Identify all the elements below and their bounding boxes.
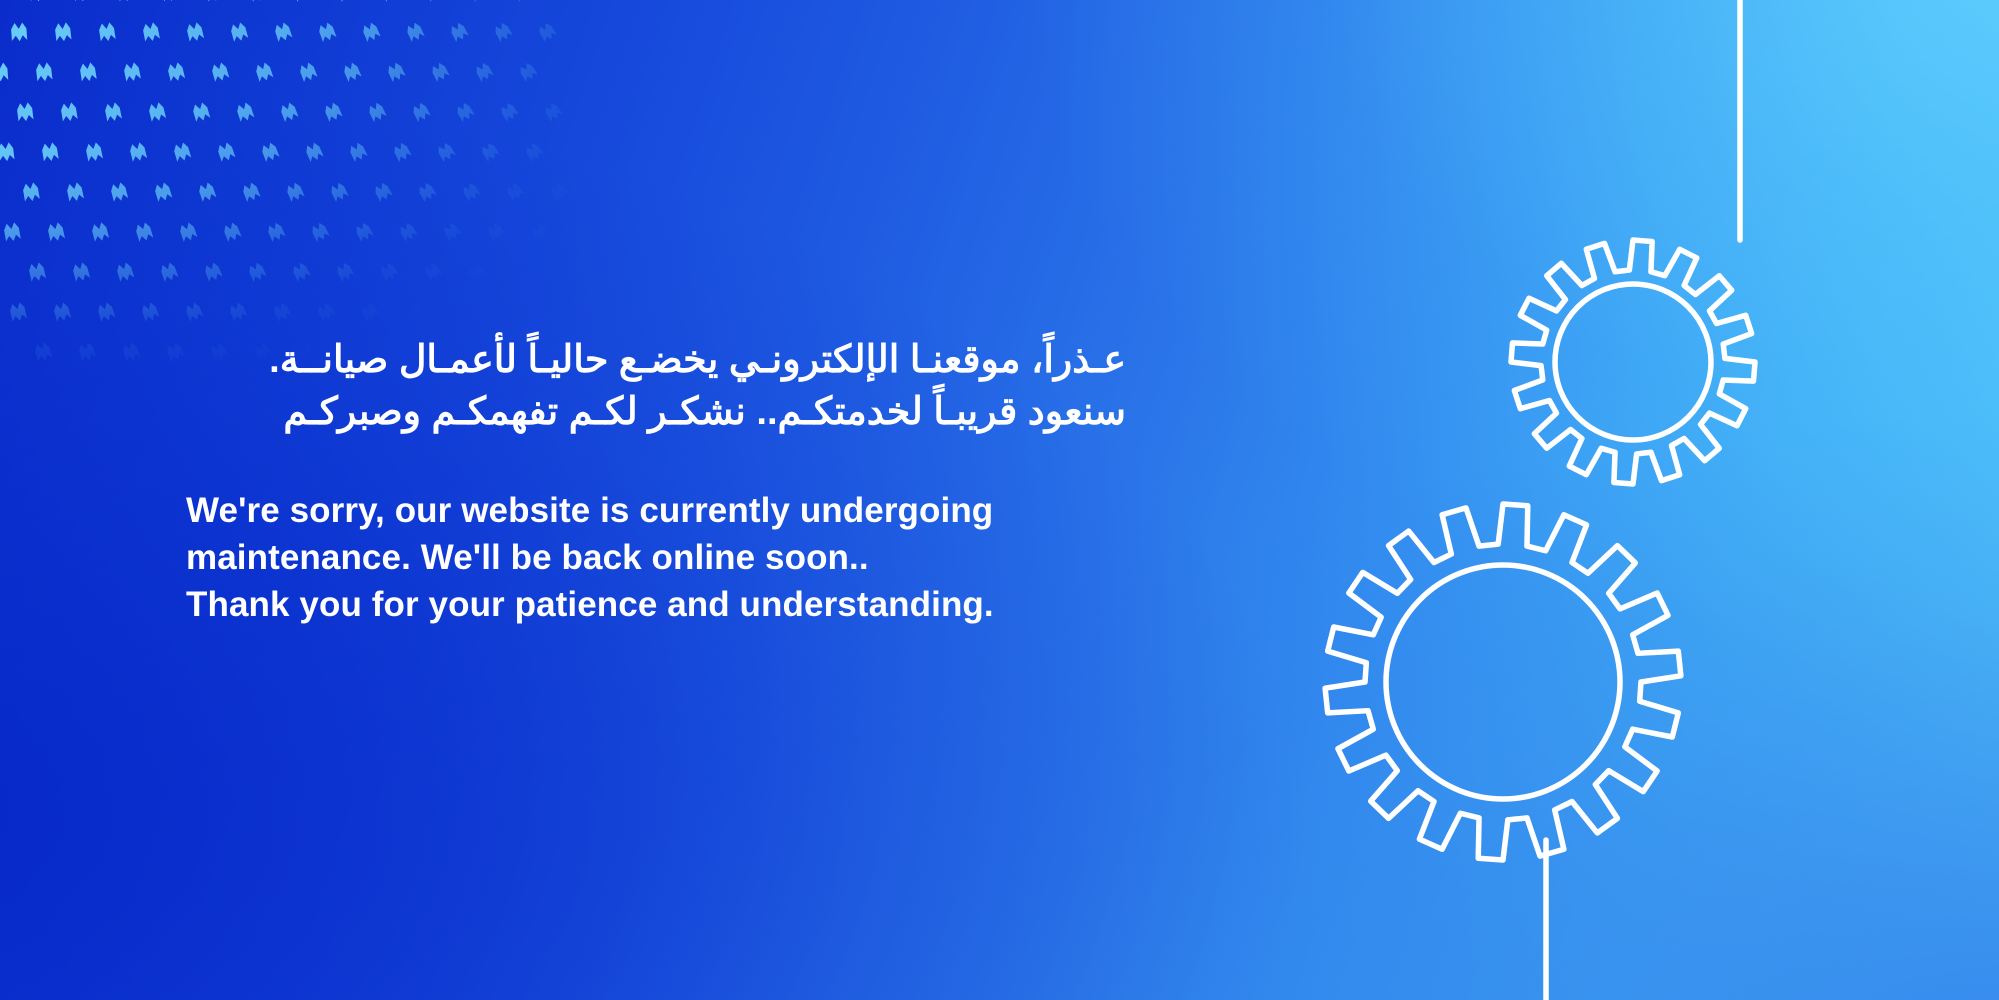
tulip-pattern-dot <box>41 142 59 162</box>
tulip-pattern-dot <box>530 222 550 243</box>
tulip-pattern-dot <box>317 21 337 42</box>
message-block: عـذراً، موقعنـا الإلكترونـي يخضـع حاليـا… <box>186 334 1186 629</box>
tulip-pattern-dot <box>66 182 84 203</box>
tulip-pattern-dot <box>285 181 305 202</box>
maintenance-page: عـذراً، موقعنـا الإلكترونـي يخضـع حاليـا… <box>0 0 1999 1000</box>
arabic-message-line-2: سنعود قريبـاً لخدمتكـم.. نشكـر لكـم تفهم… <box>186 386 1126 438</box>
tulip-pattern-dot <box>79 62 97 82</box>
tulip-pattern-dot <box>134 221 153 242</box>
tulip-pattern-dot <box>480 141 500 162</box>
tulip-pattern-dot <box>85 142 103 163</box>
tulip-pattern-dot <box>91 222 110 243</box>
tulip-pattern-dot <box>272 301 292 322</box>
tulip-pattern-dot <box>499 101 519 122</box>
tulip-pattern-dot <box>60 102 78 122</box>
tulip-pattern-dot <box>292 0 311 3</box>
tulip-pattern-dot <box>142 22 160 43</box>
tulip-pattern-dot <box>474 61 494 82</box>
tulip-pattern-dot <box>123 62 141 83</box>
tulip-pattern-dot <box>30 0 47 2</box>
tulip-pattern-dot <box>398 221 418 242</box>
tulip-pattern-dot <box>448 301 468 322</box>
tulip-pattern-dot <box>148 102 167 123</box>
english-message-line-2: maintenance. We'll be back online soon.. <box>186 535 1186 582</box>
tulip-pattern-dot <box>54 22 71 42</box>
tulip-pattern-dot <box>254 61 273 82</box>
tulip-pattern-dot <box>249 0 268 3</box>
tulip-pattern-dot <box>235 101 254 122</box>
tulip-pattern-dot <box>360 301 380 322</box>
tulip-pattern-dot <box>9 302 27 323</box>
tulip-pattern-dot <box>192 101 211 122</box>
tulip-pattern-dot <box>153 181 172 202</box>
tulip-pattern-dot <box>536 302 556 323</box>
tulip-pattern-dot <box>392 141 412 162</box>
tulip-pattern-dot <box>77 341 96 362</box>
tulip-pattern-dot <box>96 301 115 322</box>
tulip-pattern-dot <box>241 181 261 202</box>
tulip-pattern-dot <box>47 222 65 243</box>
tulip-pattern-dot <box>140 301 160 322</box>
tulip-pattern-dot <box>486 221 507 242</box>
tulip-pattern-dot <box>247 261 267 282</box>
tulip-pattern-dot <box>260 141 280 162</box>
tulip-pattern-decoration <box>0 0 620 374</box>
tulip-pattern-dot <box>455 101 475 122</box>
tulip-pattern-dot <box>0 62 8 82</box>
tulip-pattern-dot <box>379 261 399 282</box>
tulip-pattern-dot <box>411 101 431 122</box>
tulip-pattern-dot <box>172 141 191 162</box>
tulip-pattern-dot <box>367 101 387 123</box>
tulip-pattern-dot <box>98 22 116 42</box>
tulip-pattern-dot <box>436 141 456 162</box>
tulip-pattern-dot <box>216 141 235 162</box>
tulip-pattern-dot <box>28 262 46 283</box>
tulip-pattern-dot <box>0 142 15 162</box>
english-message-line-1: We're sorry, our website is currently un… <box>186 488 1186 535</box>
tulip-pattern-dot <box>159 261 178 282</box>
tulip-pattern-dot <box>117 0 135 2</box>
tulip-pattern-dot <box>35 62 52 82</box>
tulip-pattern-dot <box>442 221 462 242</box>
tulip-pattern-dot <box>354 221 374 242</box>
tulip-pattern-dot <box>511 262 531 283</box>
tulip-pattern-dot <box>518 61 538 82</box>
tulip-pattern-dot <box>386 61 406 83</box>
tulip-pattern-dot <box>3 222 21 243</box>
arabic-message-line-1: عـذراً، موقعنـا الإلكترونـي يخضـع حاليـا… <box>186 334 1126 386</box>
tulip-pattern-dot <box>11 22 28 42</box>
tulip-pattern-dot <box>549 181 570 202</box>
tulip-pattern-dot <box>493 21 513 42</box>
tulip-pattern-dot <box>423 261 443 282</box>
tulip-pattern-dot <box>524 141 545 162</box>
tulip-pattern-dot <box>461 181 481 202</box>
tulip-pattern-dot <box>449 21 469 43</box>
tulip-pattern-dot <box>405 21 425 42</box>
tulip-pattern-dot <box>304 141 324 162</box>
tulip-pattern-dot <box>34 341 53 362</box>
tulip-pattern-dot <box>492 302 512 323</box>
english-message-line-3: Thank you for your patience and understa… <box>186 582 1186 629</box>
tulip-pattern-dot <box>121 341 141 362</box>
tulip-pattern-dot <box>161 0 179 2</box>
tulip-pattern-dot <box>298 61 318 82</box>
tulip-pattern-dot <box>110 182 129 203</box>
tulip-pattern-dot <box>211 61 230 82</box>
tulip-pattern-dot <box>316 301 336 322</box>
tulip-pattern-dot <box>348 141 368 163</box>
tulip-pattern-dot <box>342 61 362 82</box>
tulip-pattern-dot <box>361 21 381 42</box>
tulip-pattern-dot <box>230 21 249 42</box>
tulip-pattern-dot <box>72 261 91 282</box>
tulip-pattern-dot <box>310 221 330 242</box>
tulip-pattern-dot <box>555 262 575 283</box>
tulip-pattern-dot <box>430 61 450 82</box>
tulip-pattern-dot <box>167 62 186 83</box>
tulip-pattern-dot <box>0 0 2 2</box>
tulip-pattern-dot <box>335 261 355 282</box>
tulip-pattern-dot <box>380 0 400 3</box>
tulip-pattern-dot <box>165 341 185 362</box>
tulip-pattern-dot <box>16 102 33 122</box>
tulip-pattern-dot <box>512 0 532 3</box>
tulip-pattern-dot <box>186 22 205 43</box>
tulip-pattern-dot <box>129 142 148 163</box>
english-message: We're sorry, our website is currently un… <box>186 488 1186 629</box>
tulip-pattern-dot <box>404 301 424 322</box>
tulip-pattern-dot <box>228 301 248 322</box>
tulip-pattern-dot <box>203 261 223 282</box>
tulip-pattern-dot <box>424 0 444 3</box>
tulip-pattern-dot <box>178 221 197 242</box>
tulip-pattern-dot <box>197 181 216 202</box>
arabic-message: عـذراً، موقعنـا الإلكترونـي يخضـع حاليـا… <box>186 334 1126 438</box>
tulip-pattern-dot <box>373 181 393 202</box>
tulip-pattern-dot <box>417 181 437 202</box>
tulip-pattern-dot <box>543 101 564 122</box>
tulip-pattern-dot <box>104 102 122 123</box>
tulip-pattern-dot <box>323 101 343 122</box>
tulip-pattern-dot <box>115 261 134 282</box>
tulip-pattern-dot <box>22 182 40 202</box>
tulip-pattern-dot <box>184 301 204 322</box>
tulip-pattern-dot <box>279 101 299 122</box>
tulip-pattern-dot <box>336 0 356 3</box>
tulip-pattern-dot <box>273 21 292 42</box>
tulip-pattern-dot <box>222 221 242 242</box>
tulip-pattern-dot <box>329 181 349 202</box>
tulip-pattern-dot <box>53 301 72 322</box>
tulip-pattern-dot <box>291 261 311 282</box>
tulip-pattern-dot <box>505 181 526 202</box>
tulip-pattern-dot <box>266 221 286 242</box>
tulip-pattern-dot <box>468 0 488 3</box>
tulip-pattern-dot <box>205 0 223 2</box>
tulip-pattern-dot <box>537 21 557 42</box>
tulip-pattern-dot <box>467 261 488 282</box>
tulip-pattern-dot <box>73 0 90 2</box>
